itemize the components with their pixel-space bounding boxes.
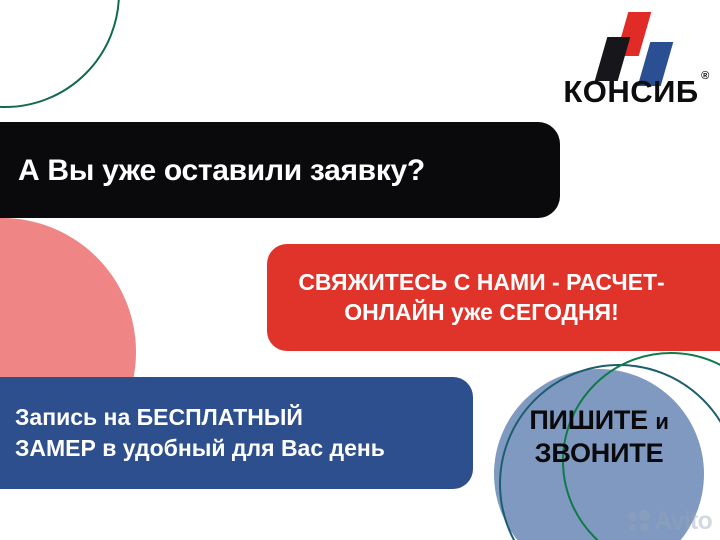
registered-trademark-icon: ® [701, 71, 710, 82]
offer-banner-blue-text: Запись на БЕСПЛАТНЫЙ ЗАМЕР в удобный для… [15, 402, 385, 464]
callout-line1-conjunction: и [655, 409, 668, 434]
logo-wordmark: КОНСИБ ® [563, 76, 698, 107]
avito-watermark: Avito [628, 509, 712, 534]
cta-red-line2-pre: ОНЛАЙН [344, 299, 451, 325]
contact-callout: ПИШИТЕ и ЗВОНИТЕ [494, 404, 704, 470]
offer-blue-line2: ЗАМЕР в удобный для Вас день [15, 433, 385, 464]
cta-red-line2-mid: уже [451, 299, 499, 325]
cta-red-line1: СВЯЖИТЕСЬ С НАМИ - РАСЧЕТ- [298, 269, 664, 295]
advertisement-poster: КОНСИБ ® А Вы уже оставили заявку? СВЯЖИ… [0, 0, 720, 540]
logo-wordmark-text: КОНСИБ [563, 74, 698, 109]
decorative-ring-top-left [0, 0, 120, 108]
brand-logo: КОНСИБ ® [556, 12, 706, 107]
cta-banner-red-text: СВЯЖИТЕСЬ С НАМИ - РАСЧЕТ- ОНЛАЙН уже СЕ… [289, 268, 674, 327]
logo-mark-group [583, 12, 679, 74]
callout-line1: ПИШИТЕ и [494, 404, 704, 437]
offer-blue-line1: Запись на БЕСПЛАТНЫЙ [15, 402, 385, 433]
avito-dots-icon [628, 510, 652, 534]
headline-banner-black-text: А Вы уже оставили заявку? [18, 154, 425, 187]
headline-banner-black: А Вы уже оставили заявку? [0, 122, 560, 218]
avito-wordmark: Avito [654, 509, 712, 534]
callout-line2: ЗВОНИТЕ [494, 437, 704, 470]
callout-line1-main: ПИШИТЕ [529, 405, 655, 435]
cta-banner-red: СВЯЖИТЕСЬ С НАМИ - РАСЧЕТ- ОНЛАЙН уже СЕ… [267, 244, 720, 351]
cta-red-line2-post: СЕГОДНЯ! [499, 299, 618, 325]
offer-banner-blue: Запись на БЕСПЛАТНЫЙ ЗАМЕР в удобный для… [0, 377, 473, 489]
